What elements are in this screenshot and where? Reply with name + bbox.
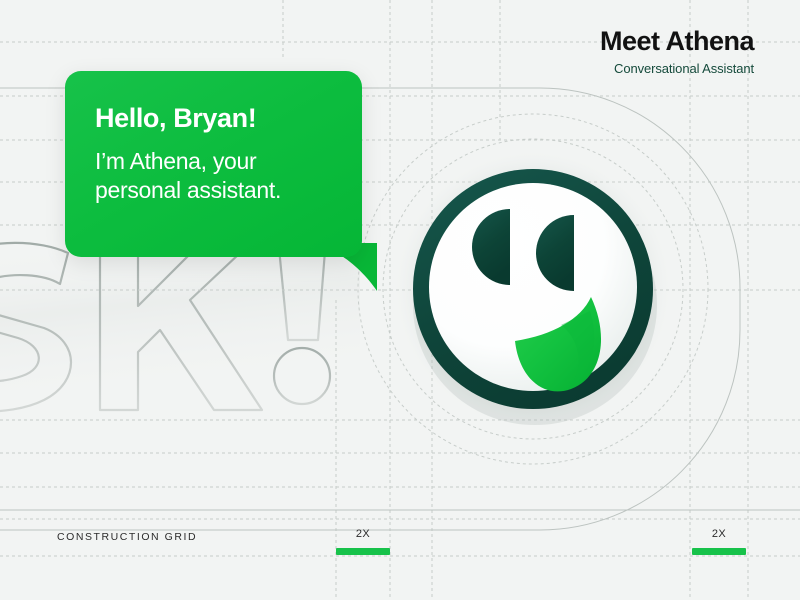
athena-mascot — [393, 139, 673, 439]
page-title: Meet Athena — [600, 26, 754, 57]
measure-marker-2-bar — [692, 548, 746, 555]
measure-marker-2-label: 2X — [692, 529, 746, 540]
intro-line-2: personal assistant. — [95, 176, 344, 205]
speech-bubble[interactable]: Hello, Bryan! I’m Athena, your personal … — [65, 71, 362, 257]
construction-grid-label: CONSTRUCTION GRID — [57, 531, 197, 543]
measure-marker-1-bar — [336, 548, 390, 555]
measure-marker-2: 2X — [692, 529, 746, 555]
speech-bubble-content: Hello, Bryan! I’m Athena, your personal … — [95, 104, 344, 206]
measure-marker-1-label: 2X — [336, 529, 390, 540]
greeting-text: Hello, Bryan! — [95, 104, 344, 134]
poster-canvas: Hello, Bryan! I’m Athena, your personal … — [0, 0, 800, 600]
intro-line-1: I’m Athena, your — [95, 147, 344, 176]
mascot-svg — [393, 139, 673, 439]
intro-text: I’m Athena, your personal assistant. — [95, 147, 344, 206]
header: Meet Athena Conversational Assistant — [600, 26, 754, 76]
measure-marker-1: 2X — [336, 529, 390, 555]
page-subtitle: Conversational Assistant — [600, 61, 754, 76]
